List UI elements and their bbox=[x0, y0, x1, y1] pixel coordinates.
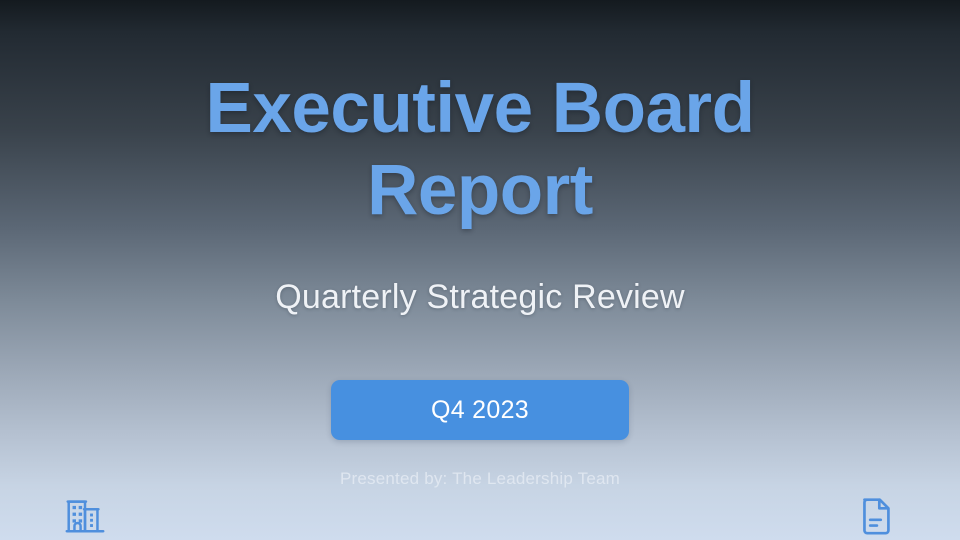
office-building-icon bbox=[62, 492, 108, 538]
title-slide: Executive Board Report Quarterly Strateg… bbox=[0, 0, 960, 540]
slide-subtitle: Quarterly Strategic Review bbox=[0, 275, 960, 319]
document-icon bbox=[852, 492, 898, 538]
presenter-credit: Presented by: The Leadership Team bbox=[0, 467, 960, 491]
office-building-icon-glyph bbox=[62, 492, 108, 538]
document-icon-glyph bbox=[852, 492, 898, 538]
status-badge: Q4 2023 bbox=[331, 380, 629, 440]
slide-content: Executive Board Report Quarterly Strateg… bbox=[0, 0, 960, 540]
page-title: Executive Board Report bbox=[160, 68, 800, 232]
period-badge-row: Q4 2023 bbox=[0, 380, 960, 440]
